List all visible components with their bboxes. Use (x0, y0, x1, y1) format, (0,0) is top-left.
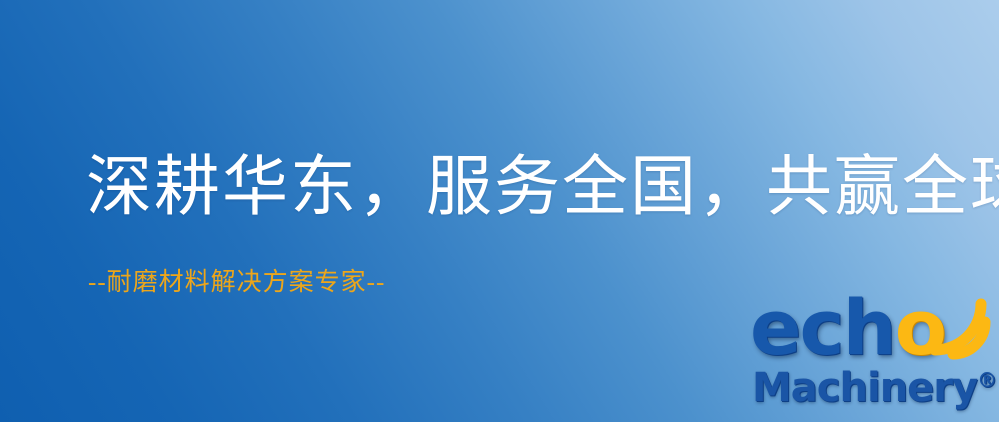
echo-signal-arcs-icon (925, 294, 997, 366)
logo-subword-text: Machinery (752, 365, 977, 411)
banner-headline: 深耕华东，服务全国，共赢全球 (86, 152, 999, 223)
echo-machinery-logo[interactable]: echo Machinery® (742, 296, 999, 422)
registered-trademark-icon: ® (977, 368, 997, 392)
promo-banner: 深耕华东，服务全国，共赢全球 --耐磨材料解决方案专家-- echo Machi… (0, 0, 999, 422)
logo-wordmark: echo (750, 290, 945, 366)
banner-subtitle: --耐磨材料解决方案专家-- (88, 268, 385, 298)
logo-subword: Machinery® (752, 368, 997, 408)
logo-word-ech: ech (750, 283, 895, 372)
